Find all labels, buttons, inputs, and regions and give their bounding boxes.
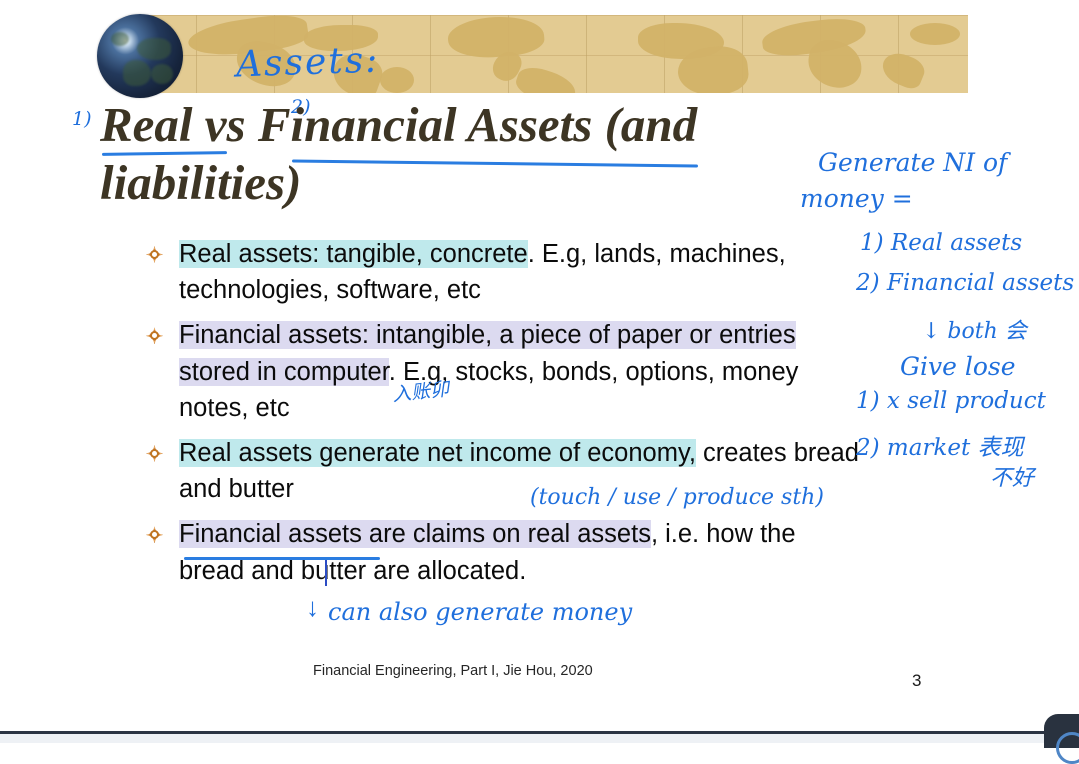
bullet-text: Real assets: tangible, concrete. E.g, la… bbox=[179, 236, 865, 308]
handwriting-note-touch: (touch / use / produce sth) bbox=[530, 485, 824, 510]
bullet-highlight-cyan: Real assets generate net income of econo… bbox=[179, 439, 696, 467]
bullet-highlight-lavender: Financial assets are claims on real asse… bbox=[179, 520, 651, 548]
page-number: 3 bbox=[912, 671, 921, 691]
globe-landmass bbox=[137, 38, 171, 60]
diamond-bullet-icon bbox=[145, 245, 164, 264]
bullet-text: Financial assets are claims on real asse… bbox=[179, 516, 865, 588]
list-item: Financial assets: intangible, a piece of… bbox=[145, 317, 865, 426]
handwriting-banner-assets: Assets: bbox=[235, 40, 380, 86]
bullet-highlight-lavender: Financial assets bbox=[179, 321, 362, 349]
handwriting-right-line-4: 2) Financial assets bbox=[856, 270, 1074, 296]
list-item: Financial assets are claims on real asse… bbox=[145, 516, 865, 588]
handwriting-note-bottom: can also generate money bbox=[328, 598, 632, 626]
list-item: Real assets: tangible, concrete. E.g, la… bbox=[145, 236, 865, 308]
handwriting-right-line-2: money = bbox=[800, 184, 913, 213]
handwriting-right-line-5: ↓ both 会 bbox=[922, 313, 1027, 345]
diamond-bullet-icon bbox=[145, 326, 164, 345]
handwriting-right-line-6: Give lose bbox=[900, 352, 1016, 381]
bullet-text: Financial assets: intangible, a piece of… bbox=[179, 317, 865, 426]
viewer-bottom-bar bbox=[0, 712, 1079, 743]
globe-landmass bbox=[111, 32, 129, 46]
handwriting-right-line-7: 1) x sell product bbox=[856, 388, 1046, 414]
handwriting-right-line-8: 2) market 表现 bbox=[856, 428, 1024, 462]
slide-footer: Financial Engineering, Part I, Jie Hou, … bbox=[313, 663, 593, 679]
globe-icon bbox=[97, 14, 183, 98]
circle-icon bbox=[1056, 732, 1079, 764]
world-map-landmass bbox=[380, 67, 414, 93]
presentation-slide: Assets: 1) 2) Real vs Financial Assets (… bbox=[0, 0, 1079, 712]
handwriting-right-line-3: 1) Real assets bbox=[860, 230, 1022, 256]
handwriting-caret-bread bbox=[325, 560, 327, 586]
page-title-line-1: Real vs Financial Assets (and bbox=[100, 96, 820, 154]
bottom-bar-fill bbox=[0, 734, 1079, 743]
bullet-highlight-cyan: : tangible, concrete bbox=[312, 240, 527, 268]
handwriting-title-mark-1: 1) bbox=[72, 108, 92, 130]
world-map-landmass bbox=[910, 23, 960, 45]
handwriting-right-line-9: 不好 bbox=[990, 460, 1034, 492]
handwriting-right-line-1: Generate NI of bbox=[818, 148, 1007, 177]
globe-landmass bbox=[123, 60, 151, 86]
handwriting-arrow-down-icon: ↓ bbox=[306, 592, 319, 623]
handwriting-underline-financial-claims bbox=[184, 557, 380, 560]
bullet-list: Real assets: tangible, concrete. E.g, la… bbox=[145, 236, 865, 598]
diamond-bullet-icon bbox=[145, 525, 164, 544]
globe-landmass bbox=[151, 64, 173, 84]
diamond-bullet-icon bbox=[145, 444, 164, 463]
bottom-bar-rule bbox=[0, 731, 1079, 734]
bullet-highlight-cyan: Real assets bbox=[179, 240, 312, 268]
